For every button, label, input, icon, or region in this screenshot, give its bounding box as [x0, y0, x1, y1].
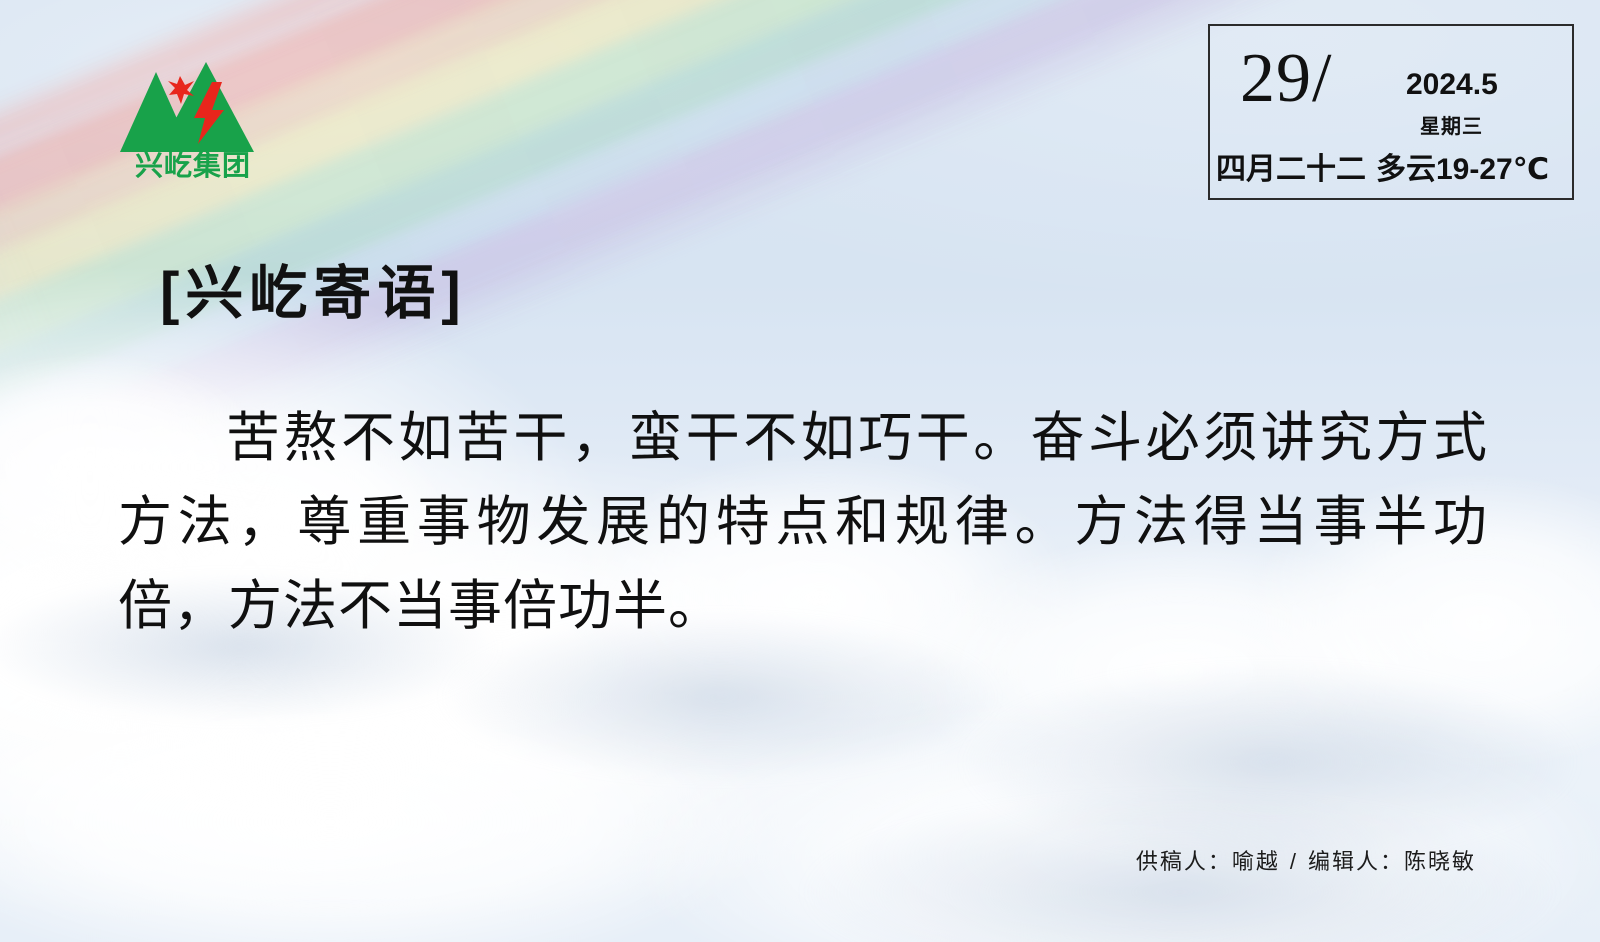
company-name-text: 兴屹集团	[135, 150, 251, 178]
day-number: 29/	[1240, 44, 1332, 114]
mountain-shapes	[120, 62, 254, 152]
weather-text: 多云19-27℃	[1376, 153, 1549, 186]
page-title: [兴屹寄语]	[160, 246, 467, 330]
editor-name: 陈晓敏	[1404, 849, 1476, 874]
lunar-and-weather-row: 四月二十二多云19-27℃	[1216, 144, 1588, 188]
message-body: 苦熬不如苦干，蛮干不如巧干。奋斗必须讲究方式方法，尊重事物发展的特点和规律。方法…	[118, 396, 1488, 648]
credits-separator: /	[1290, 849, 1298, 874]
date-card-top-row: 29/ 2024.5 星期三	[1210, 38, 1572, 130]
company-logo: 兴屹集团	[108, 48, 278, 178]
lunar-date: 四月二十二	[1216, 153, 1366, 186]
contributor-name: 喻越	[1232, 849, 1280, 874]
contributor-label: 供稿人：	[1136, 849, 1232, 874]
poster-canvas: 兴屹集团 29/ 2024.5 星期三 四月二十二多云19-27℃ [兴屹寄语]…	[0, 0, 1600, 942]
editor-label: 编辑人：	[1308, 849, 1404, 874]
year-month: 2024.5	[1406, 68, 1498, 102]
message-paragraph: 苦熬不如苦干，蛮干不如巧干。奋斗必须讲究方式方法，尊重事物发展的特点和规律。方法…	[118, 396, 1488, 648]
date-card: 29/ 2024.5 星期三 四月二十二多云19-27℃	[1208, 24, 1574, 200]
weekday: 星期三	[1420, 110, 1483, 139]
credits-footer: 供稿人：喻越/编辑人：陈晓敏	[1136, 844, 1476, 876]
